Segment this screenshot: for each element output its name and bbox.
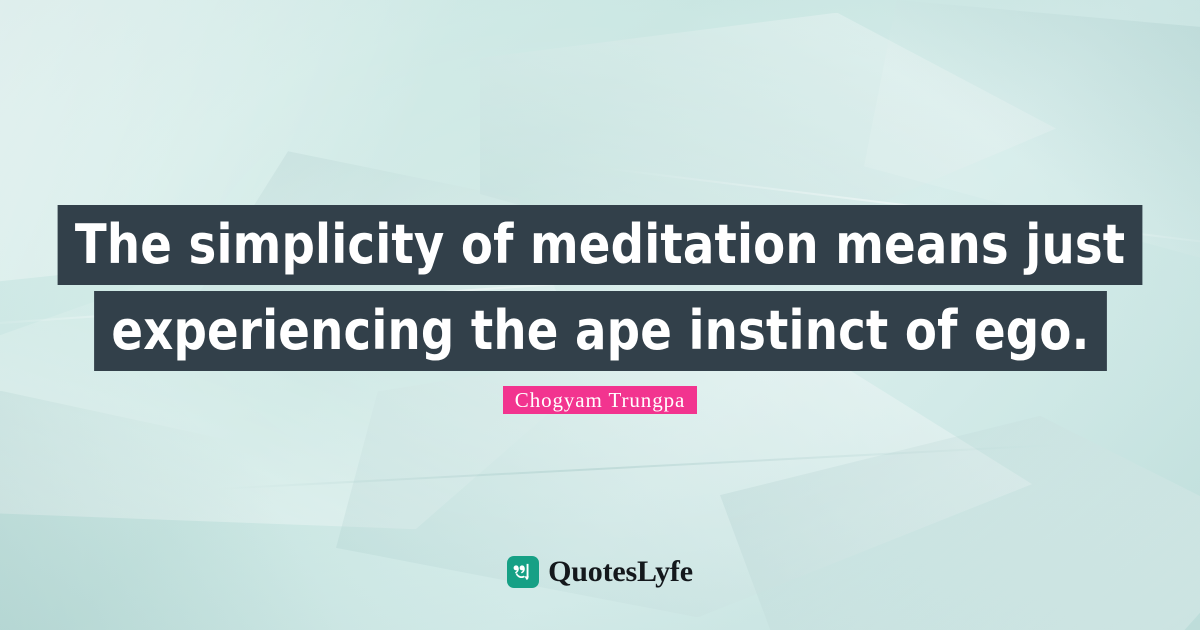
quote-text-block: The simplicity of meditation means just … [0, 205, 1200, 371]
paper-crease [217, 444, 1056, 490]
brand-name: QuotesLyfe [548, 556, 693, 588]
author-name: Chogyam Trungpa [503, 386, 697, 414]
quote-card: The simplicity of meditation means just … [0, 0, 1200, 630]
brand-logo[interactable]: QuotesLyfe [0, 556, 1200, 588]
quote-smiley-icon [507, 556, 539, 588]
quote-line: The simplicity of meditation means just [0, 205, 1200, 285]
paper-facet [720, 416, 1200, 630]
quote-line-1: The simplicity of meditation means just [58, 205, 1143, 285]
quote-line: experiencing the ape instinct of ego. [0, 291, 1200, 371]
paper-facet [0, 391, 360, 630]
author-attribution: Chogyam Trungpa [0, 386, 1200, 414]
quote-line-2: experiencing the ape instinct of ego. [94, 291, 1107, 371]
